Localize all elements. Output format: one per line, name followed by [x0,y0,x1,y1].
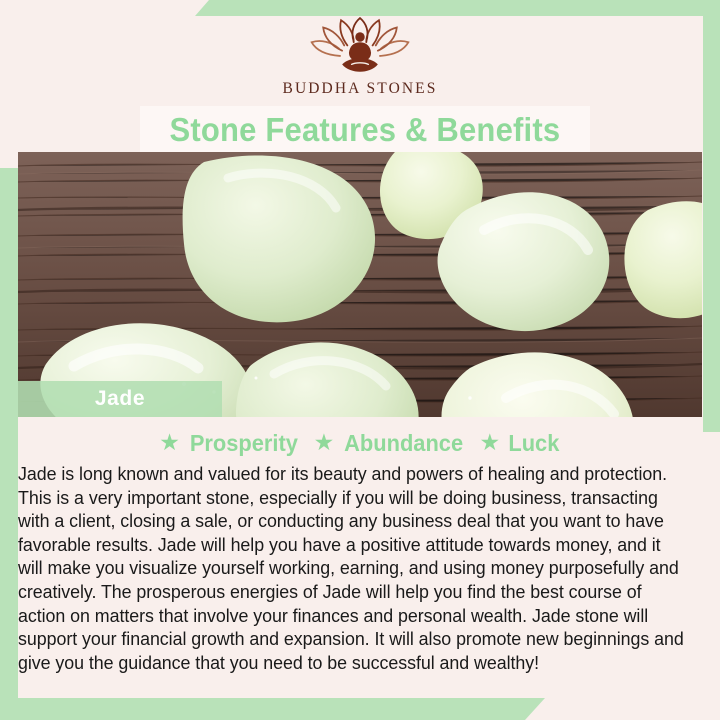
star-icon: ★ [314,431,335,454]
benefit-label: Luck [508,430,559,457]
benefits-row: ★ Prosperity ★ Abundance ★ Luck [0,430,720,457]
brand-logo: BUDDHA STONES [0,16,720,106]
description-text: Jade is long known and valued for its be… [18,462,689,674]
infographic-page: BUDDHA STONES Stone Features & Benefits [0,0,720,720]
description-panel: Jade is long known and valued for its be… [18,462,706,698]
page-title: Stone Features & Benefits [170,111,561,149]
lotus-meditation-figure-icon [306,16,414,78]
star-icon: ★ [479,431,500,454]
benefit-item: ★ Luck [479,430,560,457]
decorative-band-top [195,0,720,16]
stone-name-plate: Jade [18,381,222,417]
star-icon: ★ [159,431,180,454]
brand-name: BUDDHA STONES [283,80,438,98]
benefit-label: Prosperity [190,430,298,457]
benefit-item: ★ Prosperity [159,430,300,457]
hero-image [18,152,702,417]
stone-name: Jade [95,387,145,411]
benefit-item: ★ Abundance [314,430,467,457]
title-banner: Stone Features & Benefits [140,106,590,153]
decorative-band-bottom [0,698,545,720]
benefit-label: Abundance [344,430,463,457]
